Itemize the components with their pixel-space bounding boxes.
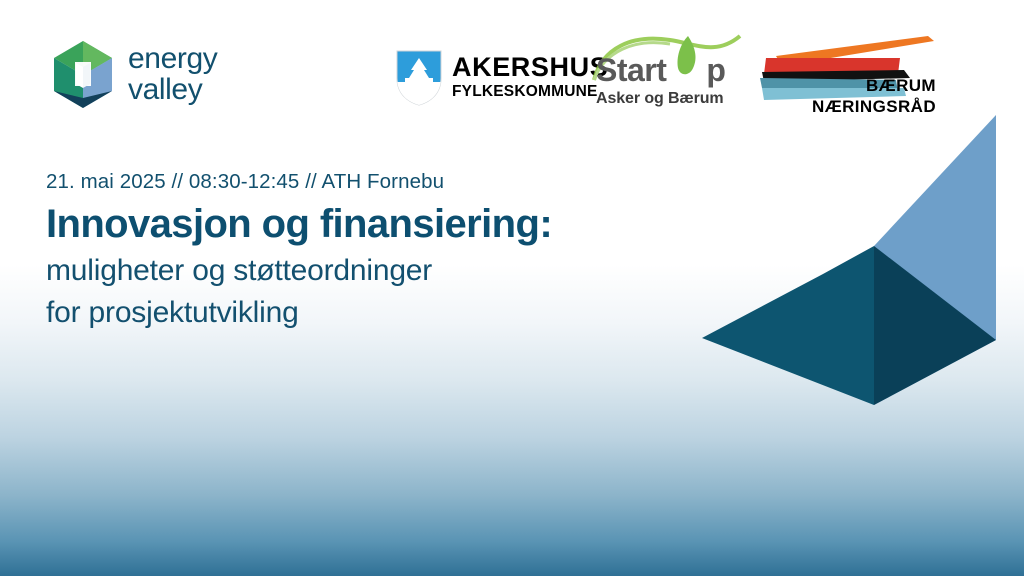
header-logo-row: energy valley AKERSHUS FYLKESKOMMUNE: [0, 0, 1024, 130]
isometric-shape-svg: [690, 100, 1024, 420]
isometric-corner-shape: [690, 100, 1024, 420]
akershus-line1: AKERSHUS: [452, 54, 608, 81]
baerum-line2: NÆRINGSRÅD: [812, 97, 936, 117]
logo-energy-valley: energy valley: [52, 40, 217, 110]
event-meta-line: 21. mai 2025 // 08:30-12:45 // ATH Forne…: [46, 170, 726, 194]
footer-logo-row: Innovation Norway EksfinNO EKSPORTFINANS…: [0, 456, 1024, 576]
iso-horizontal-plane-left: [702, 246, 874, 405]
logo-akershus-fylkeskommune: AKERSHUS FYLKESKOMMUNE: [396, 50, 608, 106]
page-title: Innovasjon og finansiering:: [46, 202, 726, 247]
baerum-line1: BÆRUM: [866, 76, 936, 96]
akershus-shield-icon: [396, 50, 442, 106]
page-subtitle-line2: for prosjektutvikling: [46, 295, 726, 332]
energy-valley-wordmark: energy valley: [128, 44, 217, 105]
startup-line1: Startp: [596, 52, 725, 89]
logo-startup-asker-og-baerum: Startp Asker og Bærum: [592, 34, 742, 110]
startup-word-start: Start: [596, 52, 666, 88]
energy-valley-line1: energy: [128, 44, 217, 75]
energy-valley-line2: valley: [128, 75, 217, 106]
akershus-wordmark: AKERSHUS FYLKESKOMMUNE: [452, 54, 608, 102]
startup-word-p: p: [706, 52, 725, 88]
slide-canvas: energy valley AKERSHUS FYLKESKOMMUNE: [0, 0, 1024, 576]
iso-vertical-plane: [874, 115, 996, 405]
logo-baerum-naeringsrad: BÆRUM NÆRINGSRÅD: [758, 36, 938, 116]
akershus-line2: FYLKESKOMMUNE: [452, 83, 608, 102]
startup-line2: Asker og Bærum: [596, 90, 724, 108]
page-subtitle-line1: muligheter og støtteordninger: [46, 253, 726, 290]
headline-block: 21. mai 2025 // 08:30-12:45 // ATH Forne…: [46, 170, 726, 332]
iso-horizontal-plane-right: [874, 246, 996, 405]
energy-valley-cube-icon: [52, 40, 114, 110]
